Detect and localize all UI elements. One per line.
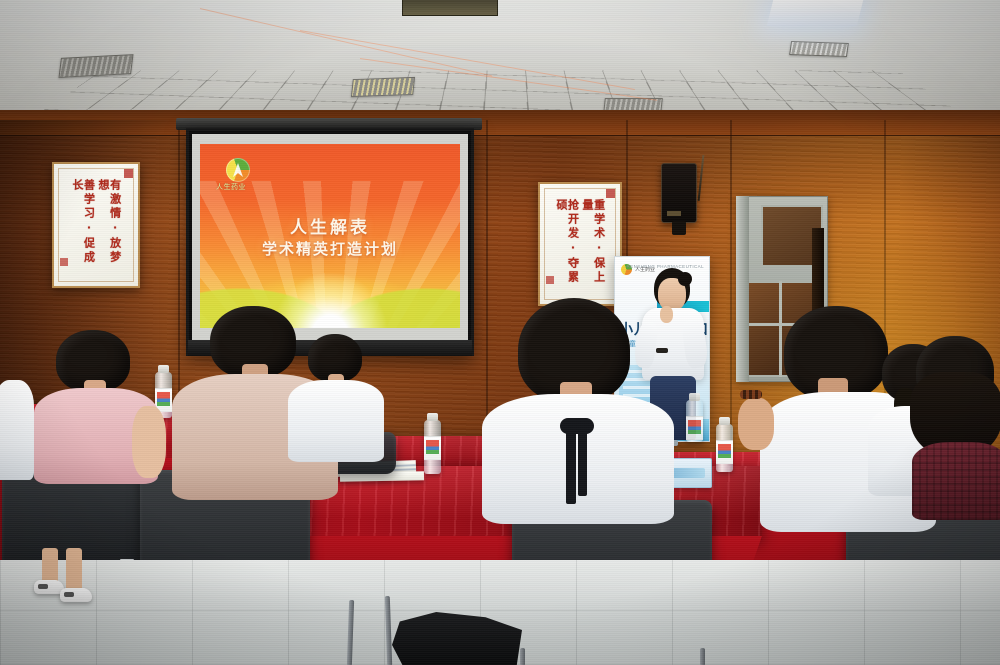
attendee-arm	[738, 398, 774, 450]
blouse-bow-ribbon	[566, 430, 576, 504]
seminar-room-photo: 人生药业 人生解表 学术精英打造计划 有激情·放梦想 善学习·促成长 重学术·保…	[0, 0, 1000, 665]
poster-inner-frame: 重学术·保上量 抢开发·夺累硕	[544, 188, 616, 300]
attendee-leg	[66, 548, 82, 592]
poster-seal-icon	[606, 189, 615, 198]
wall-panel-seam	[730, 120, 732, 460]
chair-leg	[700, 648, 705, 665]
beaded-bracelet	[740, 390, 762, 399]
poster-inner-frame: 有激情·放梦想 善学习·促成长	[58, 168, 134, 282]
bottle-cap	[689, 393, 700, 401]
poster-seal-icon	[546, 276, 554, 284]
slide-logo-text: 人生药业	[216, 182, 276, 192]
wall-speaker-icon	[661, 163, 697, 223]
blouse-bow-ribbon	[578, 430, 587, 496]
attendee-torso	[0, 380, 34, 480]
bottle-label	[686, 416, 703, 440]
sunrise-mountain-logo-icon	[226, 158, 250, 182]
bottle-cap	[719, 417, 730, 425]
poster-calligraphy-column: 重学术·保上量	[582, 199, 605, 289]
poster-seal-icon	[60, 258, 68, 266]
presenter-hair-bun	[678, 272, 692, 286]
attendee-white-blouse-bow	[482, 298, 674, 526]
wall-poster-left: 有激情·放梦想 善学习·促成长	[52, 162, 140, 288]
ceiling-vent	[351, 77, 415, 97]
poster-calligraphy-column: 抢开发·夺累硕	[555, 199, 578, 289]
slide-title-line1: 人生解表	[200, 218, 460, 239]
projector-mount	[402, 0, 498, 16]
bottle-label	[716, 440, 733, 464]
attendee-edge-left	[0, 360, 34, 480]
attendee-torso	[912, 442, 1000, 520]
presentation-slide: 人生药业 人生解表 学术精英打造计划	[200, 144, 460, 328]
slide-title-block: 人生解表 学术精英打造计划	[200, 218, 460, 260]
attendee-white-left	[288, 334, 384, 458]
poster-seal-icon	[124, 169, 133, 178]
bottle-cap	[427, 413, 438, 421]
bottle-label	[424, 436, 441, 460]
attendee-torso	[288, 380, 384, 462]
poster-calligraphy-column: 有激情·放梦想	[98, 179, 121, 271]
door-jamb	[736, 196, 749, 382]
attendee-pink-top	[32, 330, 164, 510]
attendee-maroon-plaid	[908, 336, 1000, 516]
poster-calligraphy-column: 善学习·促成长	[71, 179, 94, 271]
speaker-mount-bracket	[672, 221, 686, 235]
slide-title-line2: 学术精英打造计划	[200, 239, 460, 259]
slide-company-logo: 人生药业	[216, 158, 276, 192]
water-bottle	[424, 420, 441, 474]
water-bottle	[686, 400, 703, 442]
ceiling-light-fixture	[767, 0, 863, 26]
ceiling-vent	[58, 54, 133, 78]
chair-leg	[520, 648, 525, 665]
shoe	[60, 588, 92, 602]
wall-poster-right: 重学术·保上量 抢开发·夺累硕	[538, 182, 622, 306]
ceiling-vent	[789, 41, 849, 57]
water-bottle	[716, 424, 733, 472]
attendee-arm	[132, 406, 166, 478]
